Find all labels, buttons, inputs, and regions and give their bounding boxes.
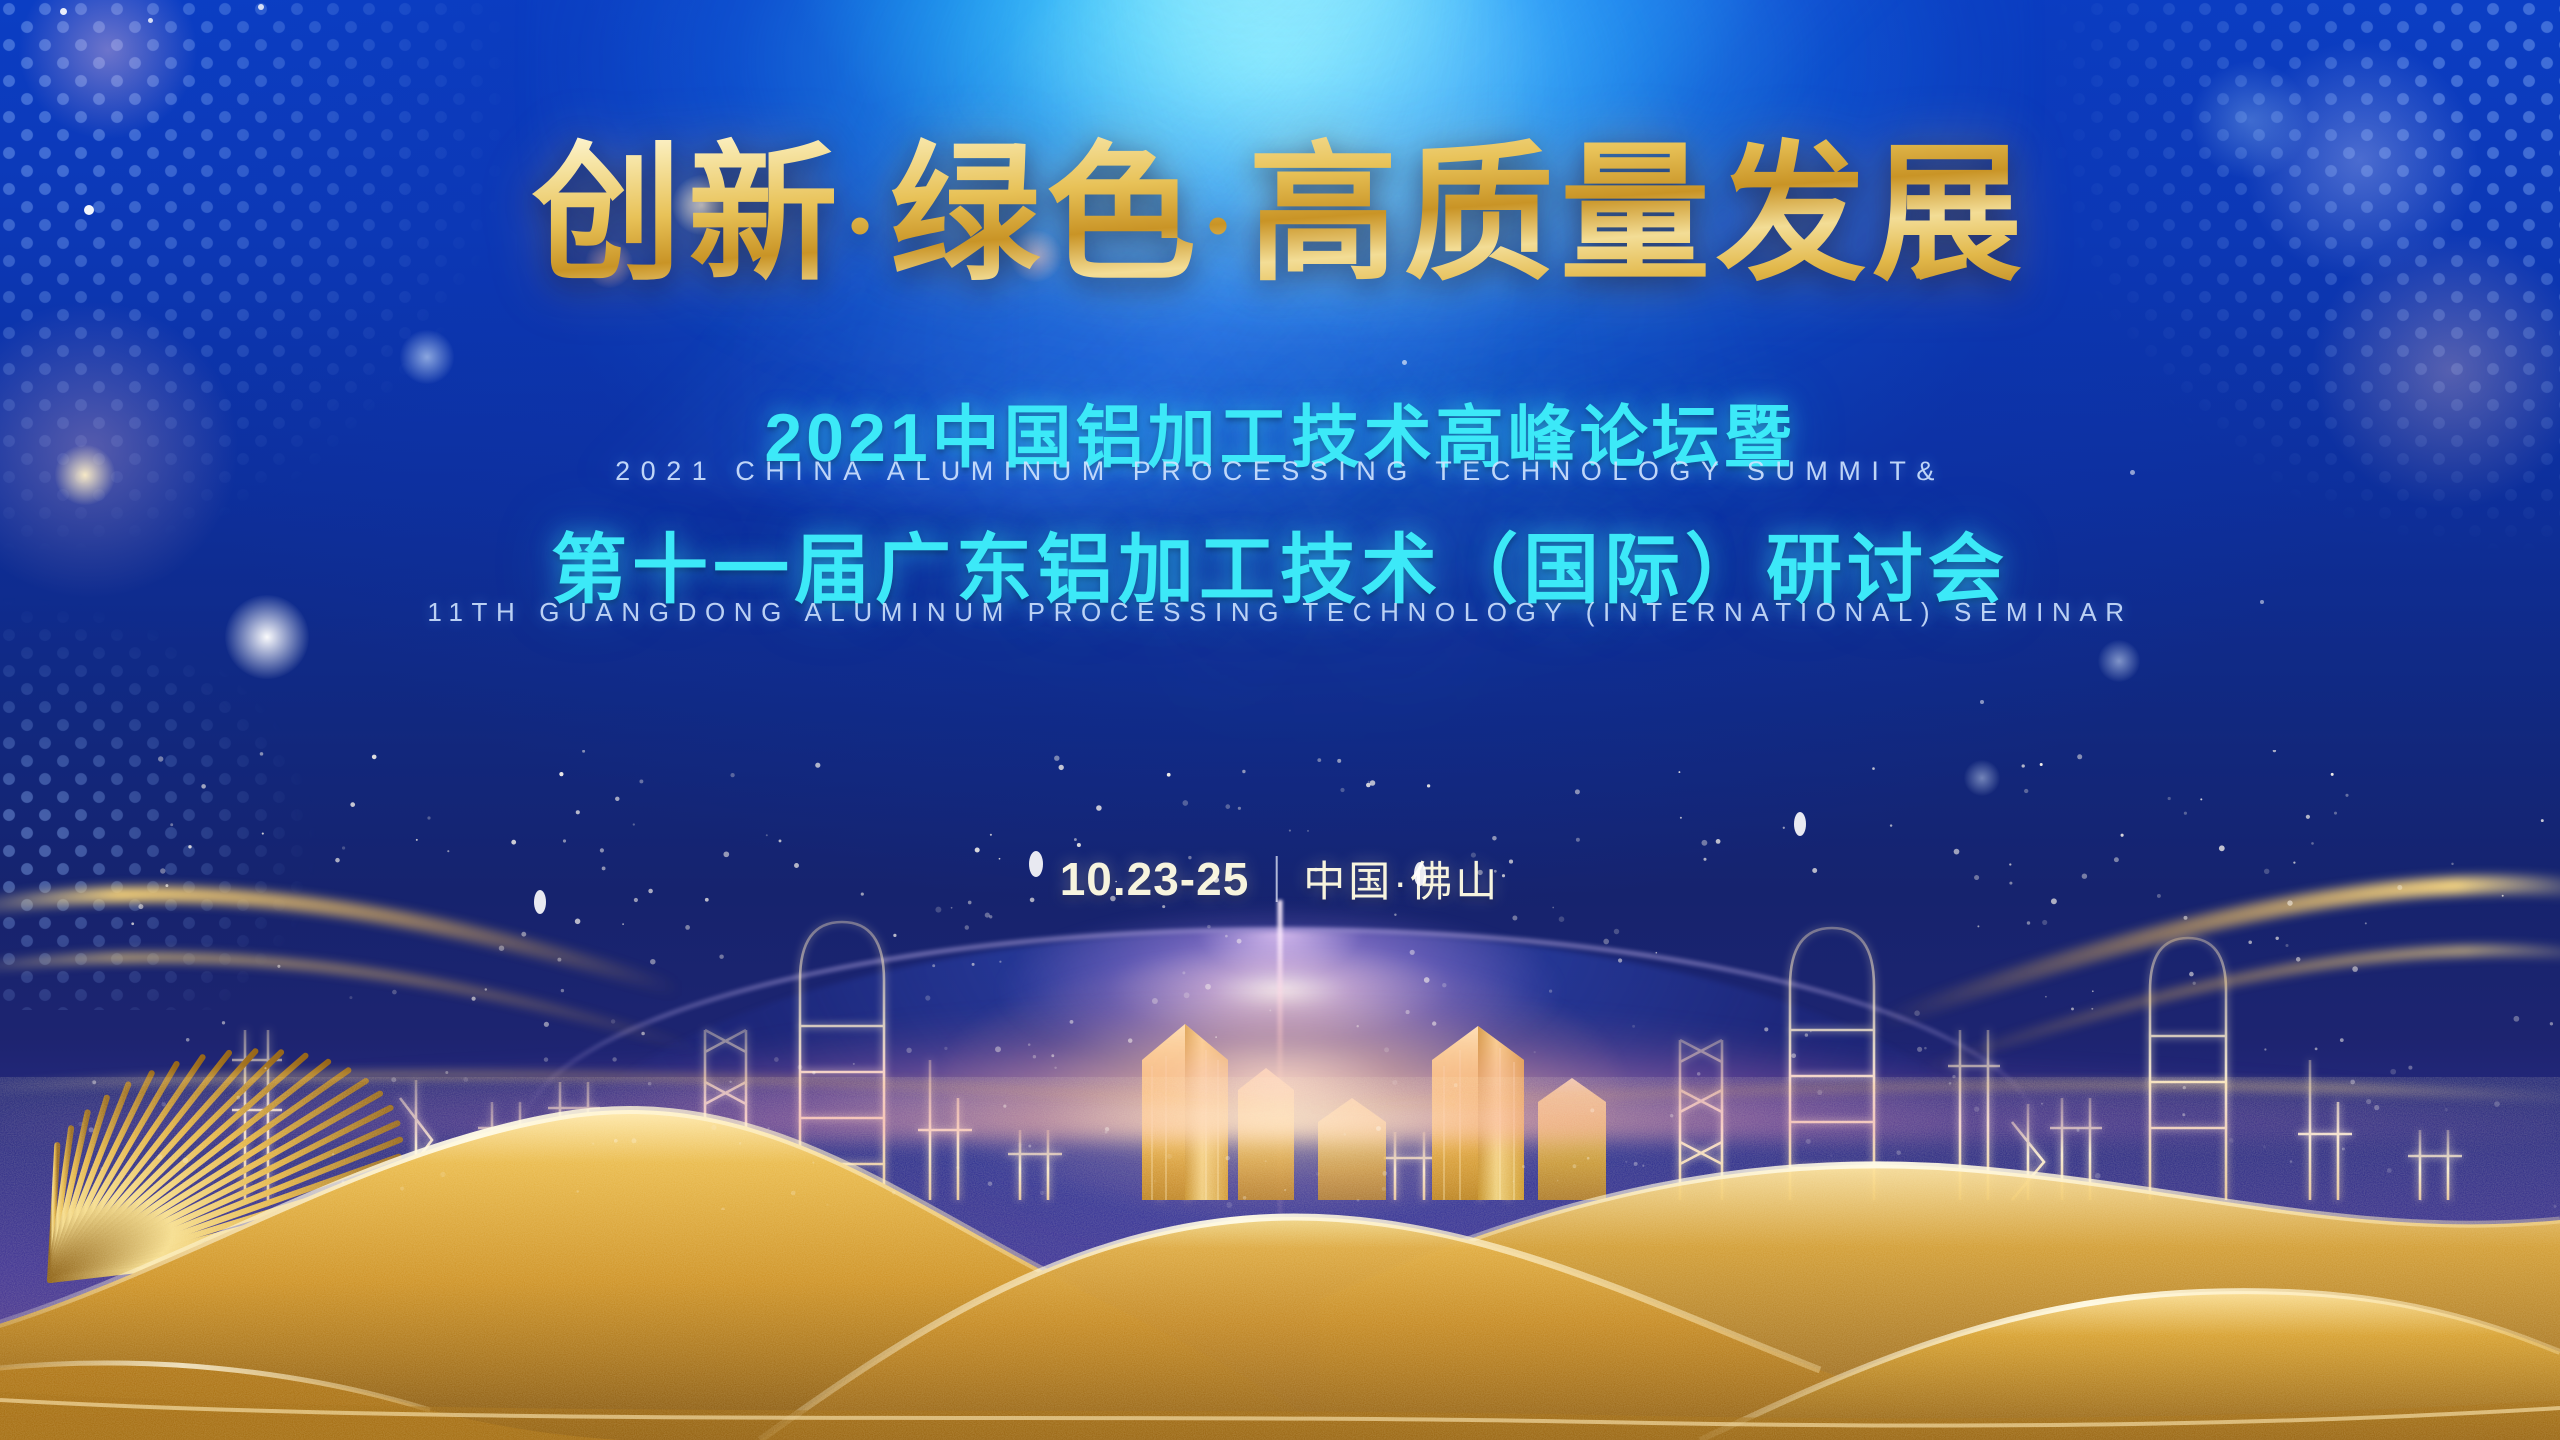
- horizon-dome: [540, 930, 2020, 1360]
- headline-english-line-2: 11TH GUANGDONG ALUMINUM PROCESSING TECHN…: [427, 597, 2132, 628]
- fan-rods: [50, 1051, 400, 1280]
- center-burst-glow: [940, 955, 1620, 1215]
- star-dot: [2260, 600, 2264, 604]
- bokeh-circle: [225, 595, 309, 679]
- calligraphy-part-2: 绿色: [890, 126, 1202, 302]
- event-date: 10.23-25: [1060, 852, 1250, 906]
- main-calligraphy-title: 创新·绿色·高质量发展: [532, 118, 2028, 310]
- horizon-flare-beam: [1278, 900, 1283, 1280]
- star-dot: [148, 18, 153, 23]
- wireframe-buildings: [232, 922, 2510, 1200]
- headline-english-line-1: 2021 CHINA ALUMINUM PROCESSING TECHNOLOG…: [615, 456, 1945, 487]
- bokeh-circle: [18, 0, 198, 140]
- star-dot: [60, 8, 67, 15]
- calligraphy-part-3: 高质量发展: [1248, 126, 2028, 302]
- calligraphy-separator-2: ·: [1202, 172, 1248, 280]
- star-dot: [2130, 470, 2135, 475]
- conference-poster: 创新·绿色·高质量发展 2021中国铝加工技术高峰论坛暨 2021 CHINA …: [0, 0, 2560, 1440]
- calligraphy-part-1: 创新: [532, 126, 844, 302]
- horizon-flare: [1000, 905, 1560, 1075]
- bokeh-circle: [0, 300, 240, 600]
- gold-light-streaks: [0, 760, 2560, 1180]
- halftone-dots-lower-left: [0, 590, 760, 1010]
- city-skyline: [0, 730, 2560, 1290]
- bokeh-circle: [2240, 40, 2480, 280]
- event-meta: 10.23-25 中国·佛山: [1060, 848, 1501, 909]
- star-dot: [84, 205, 94, 215]
- bokeh-circle: [2310, 230, 2560, 510]
- light-beam: [774, 0, 1419, 745]
- star-dot: [258, 4, 264, 10]
- calligraphy-separator-1: ·: [844, 172, 890, 280]
- gold-towers: [1142, 1024, 1606, 1200]
- radial-gold-fan: [10, 980, 470, 1320]
- golden-sand-dunes: [0, 900, 2560, 1440]
- city-horizon-glow: [0, 900, 2560, 1140]
- bokeh-circle: [2098, 640, 2140, 682]
- horizon-dome-rim: [520, 928, 2040, 1348]
- star-dot: [1980, 700, 1984, 704]
- bokeh-circle: [55, 445, 115, 505]
- sparkle-field: [0, 750, 2560, 1210]
- bokeh-circle: [400, 330, 454, 384]
- meta-divider: [1275, 856, 1277, 902]
- event-location: 中国·佛山: [1303, 848, 1500, 909]
- bokeh-circle: [2190, 60, 2310, 180]
- star-dot: [1402, 360, 1407, 365]
- bokeh-circle: [1964, 760, 2000, 796]
